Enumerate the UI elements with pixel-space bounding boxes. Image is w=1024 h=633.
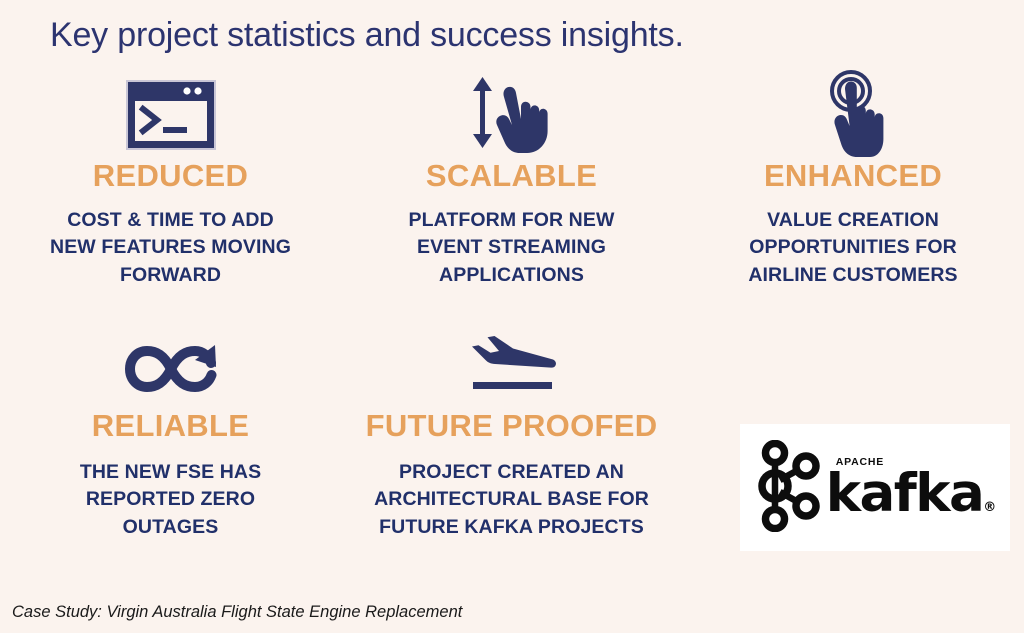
- pinch-scale-hand-icon: [466, 72, 558, 158]
- stat-body-line: AIRLINE CUSTOMERS: [748, 262, 957, 290]
- stat-body: PROJECT CREATED AN ARCHITECTURAL BASE FO…: [374, 459, 649, 542]
- registered-mark: ®: [983, 500, 996, 515]
- stat-body-line: PLATFORM FOR NEW: [409, 207, 615, 235]
- stat-body-line: FORWARD: [50, 262, 291, 290]
- kafka-nodes-icon: [754, 440, 826, 537]
- stat-body-line: EVENT STREAMING: [409, 234, 615, 262]
- stat-body-line: THE NEW FSE HAS: [80, 459, 261, 487]
- tap-hand-icon: [810, 72, 896, 158]
- stat-heading: ENHANCED: [764, 160, 942, 193]
- stat-heading: SCALABLE: [426, 160, 597, 193]
- stat-body-line: NEW FEATURES MOVING: [50, 234, 291, 262]
- stat-body-line: COST & TIME TO ADD: [50, 207, 291, 235]
- kafka-apache-text: APACHE: [836, 457, 884, 468]
- stat-card-scalable: SCALABLE PLATFORM FOR NEW EVENT STREAMIN…: [341, 72, 682, 330]
- stat-body-line: VALUE CREATION: [748, 207, 957, 235]
- slide-canvas: Key project statistics and success insig…: [0, 0, 1024, 633]
- stat-heading: REDUCED: [93, 160, 248, 193]
- airplane-takeoff-icon: [457, 330, 567, 408]
- kafka-name-text: kafka®: [826, 467, 997, 520]
- stat-body-line: REPORTED ZERO: [80, 486, 261, 514]
- page-title: Key project statistics and success insig…: [50, 16, 684, 55]
- stat-body: COST & TIME TO ADD NEW FEATURES MOVING F…: [50, 207, 291, 290]
- stat-card-future-proofed: FUTURE PROOFED PROJECT CREATED AN ARCHIT…: [341, 330, 682, 560]
- stat-card-reduced: REDUCED COST & TIME TO ADD NEW FEATURES …: [0, 72, 341, 330]
- kafka-wordmark: APACHE kafka®: [826, 458, 997, 520]
- stat-card-reliable: RELIABLE THE NEW FSE HAS REPORTED ZERO O…: [0, 330, 341, 560]
- terminal-window-icon: [125, 72, 217, 158]
- stat-body-line: OPPORTUNITIES FOR: [748, 234, 957, 262]
- stat-body: THE NEW FSE HAS REPORTED ZERO OUTAGES: [80, 459, 261, 542]
- infinity-loop-arrow-icon: [123, 330, 219, 408]
- stat-card-enhanced: ENHANCED VALUE CREATION OPPORTUNITIES FO…: [682, 72, 1024, 330]
- stat-heading: FUTURE PROOFED: [366, 410, 658, 443]
- stat-body: VALUE CREATION OPPORTUNITIES FOR AIRLINE…: [748, 207, 957, 290]
- stat-body-line: APPLICATIONS: [409, 262, 615, 290]
- footer-caption: Case Study: Virgin Australia Flight Stat…: [12, 603, 462, 622]
- kafka-logo-card: APACHE kafka®: [740, 424, 1010, 551]
- stat-body-line: PROJECT CREATED AN: [374, 459, 649, 487]
- stat-body-line: OUTAGES: [80, 514, 261, 542]
- stat-body: PLATFORM FOR NEW EVENT STREAMING APPLICA…: [409, 207, 615, 290]
- kafka-logo: APACHE kafka®: [754, 440, 997, 537]
- stat-body-line: ARCHITECTURAL BASE FOR: [374, 486, 649, 514]
- stat-heading: RELIABLE: [92, 410, 249, 443]
- stat-body-line: FUTURE KAFKA PROJECTS: [374, 514, 649, 542]
